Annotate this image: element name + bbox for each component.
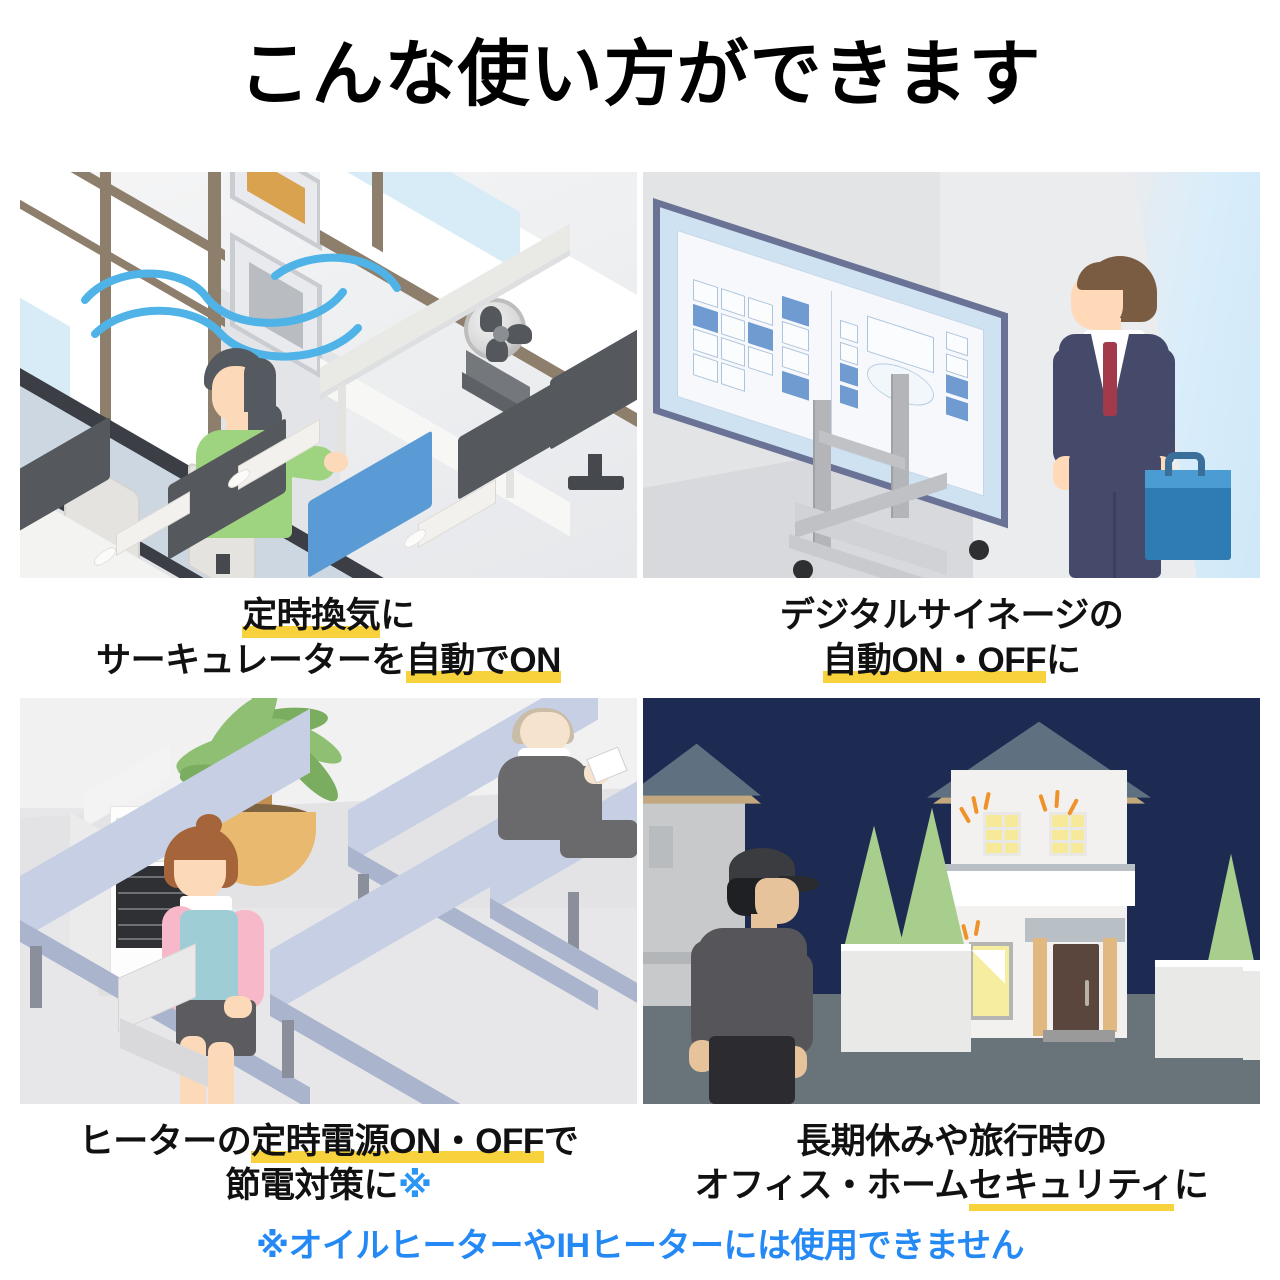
businessman-trouser-split (1113, 492, 1116, 578)
porch-pillar-left (1033, 938, 1047, 1036)
businessman-arm-right (1145, 348, 1175, 468)
businessman-figure (1053, 256, 1233, 578)
signage-block (840, 320, 858, 344)
house-front-step (1043, 1030, 1115, 1042)
window-glare (971, 950, 1005, 984)
caption-hl-1: 自動ON・OFF (823, 639, 1046, 684)
fan-blade-2 (506, 324, 532, 344)
caption-security: 長期休みや旅行時の オフィス・ホームセキュリティに (643, 1104, 1260, 1210)
window-grid-horizontal (1052, 840, 1084, 843)
caption-line-1: 定時換気に (20, 594, 637, 639)
businessman-hair-front (1077, 262, 1139, 290)
signage-block-active (840, 384, 858, 408)
front-wall-far-right (1243, 964, 1260, 1060)
woman-hand (224, 996, 252, 1018)
caption-hl-1: 定時換気 (242, 594, 380, 639)
monitor-right-base (568, 476, 624, 490)
signage-block (946, 353, 967, 378)
usecase-grid: 定時換気に サーキュレーターを自動でON (20, 172, 1260, 1209)
signage-block (840, 341, 858, 365)
signage-block-active (946, 374, 967, 399)
signage-block (721, 362, 745, 391)
bench-main-leg (30, 946, 42, 1008)
man-head (520, 712, 570, 752)
caption-circulator: 定時換気に サーキュレーターを自動でON (20, 578, 637, 684)
caption-text-2: サーキュレーターを (96, 641, 406, 680)
intruder-figure (691, 848, 871, 1104)
caption-text-2: で (544, 1122, 579, 1161)
caption-line-1: 長期休みや旅行時の (643, 1120, 1260, 1165)
woman-bangs (168, 832, 234, 860)
house-balcony (945, 864, 1135, 906)
businessman-arm-left (1053, 348, 1083, 466)
office-circulator-scene (20, 172, 637, 578)
digital-signage-scene (643, 172, 1260, 578)
caption-text-1: ヒーターの (79, 1122, 252, 1161)
caption-footnote-mark: ※ (398, 1166, 432, 1205)
usecase-cell-heater: ヒーターの定時電源ON・OFFで 節電対策に※ (20, 698, 637, 1210)
house-window-large-lit (969, 942, 1013, 1020)
caption-text-2: オフィス・ホーム (695, 1166, 969, 1205)
caption-text-1: 長期休みや旅行時の (796, 1122, 1107, 1161)
caption-line-2: サーキュレーターを自動でON (20, 639, 637, 684)
signage-block-active (840, 363, 858, 387)
infographic-page: こんな使い方ができます (0, 0, 1280, 1280)
man-legs (560, 820, 637, 858)
footnote-text: ※オイルヒーターやIHヒーターには使用できません (0, 1218, 1280, 1267)
window-grid-horizontal (1052, 827, 1084, 830)
signage-block (748, 346, 772, 375)
lounge-woman-laptop (148, 814, 338, 1094)
signage-block (946, 332, 967, 357)
porch-pillar-right (1103, 938, 1117, 1032)
signage-block (693, 353, 717, 382)
signage-block-active (946, 396, 967, 421)
worker-hand (324, 452, 348, 472)
monitor-front-center-stand (216, 554, 230, 574)
caption-text-3: 節電対策に (225, 1166, 398, 1205)
caption-line-2: オフィス・ホームセキュリティに (643, 1164, 1260, 1209)
heater-lounge-scene (20, 698, 637, 1104)
window-grid-horizontal (986, 840, 1018, 843)
house-front-door (1053, 944, 1099, 1036)
lounge-man-seated (472, 708, 637, 858)
night-house-security-scene (643, 698, 1260, 1104)
window-grid-vertical (1002, 815, 1005, 853)
door-handle (1085, 980, 1089, 1006)
page-title: こんな使い方ができます (0, 0, 1280, 115)
caption-text-2: に (1046, 641, 1081, 680)
caption-line-2: 自動ON・OFFに (643, 639, 1260, 684)
caption-heater: ヒーターの定時電源ON・OFFで 節電対策に※ (20, 1104, 637, 1210)
house-window-upper-right (1049, 812, 1087, 856)
caption-text-1: デジタルサイネージの (780, 596, 1124, 635)
circulator-fan (458, 298, 548, 398)
neighbour-window (649, 826, 673, 868)
window-grid-vertical (1068, 815, 1071, 853)
fan-blade-3 (486, 338, 508, 362)
caption-line-2: 節電対策に※ (20, 1164, 637, 1209)
briefcase (1145, 480, 1231, 560)
briefcase-handle (1165, 452, 1205, 476)
caption-text-3: に (1174, 1166, 1209, 1205)
caption-hl-2: 自動でON (406, 639, 561, 684)
usecase-cell-security: 長期休みや旅行時の オフィス・ホームセキュリティに (643, 698, 1260, 1210)
caption-line-1: ヒーターの定時電源ON・OFFで (20, 1120, 637, 1165)
caption-signage: デジタルサイネージの 自動ON・OFFに (643, 578, 1260, 684)
window-mullion-right (372, 172, 383, 252)
caption-hl-1: 定時電源ON・OFF (251, 1120, 543, 1165)
woman-leg-right (208, 1042, 234, 1104)
signage-stand-caster (793, 560, 813, 578)
intruder-arm-left (691, 940, 725, 1052)
signage-stand-caster (969, 540, 989, 560)
house-window-upper-left (983, 812, 1021, 856)
window-grid-horizontal (986, 827, 1018, 830)
usecase-cell-signage: デジタルサイネージの 自動ON・OFFに (643, 172, 1260, 684)
caption-hl-1: セキュリティ (969, 1164, 1174, 1209)
fan-hub (493, 326, 509, 342)
caption-line-1: デジタルサイネージの (643, 594, 1260, 639)
intruder-trousers (709, 1036, 795, 1104)
caption-text-1: に (380, 596, 415, 635)
usecase-cell-circulator: 定時換気に サーキュレーターを自動でON (20, 172, 637, 684)
businessman-tie-front (1103, 342, 1117, 416)
